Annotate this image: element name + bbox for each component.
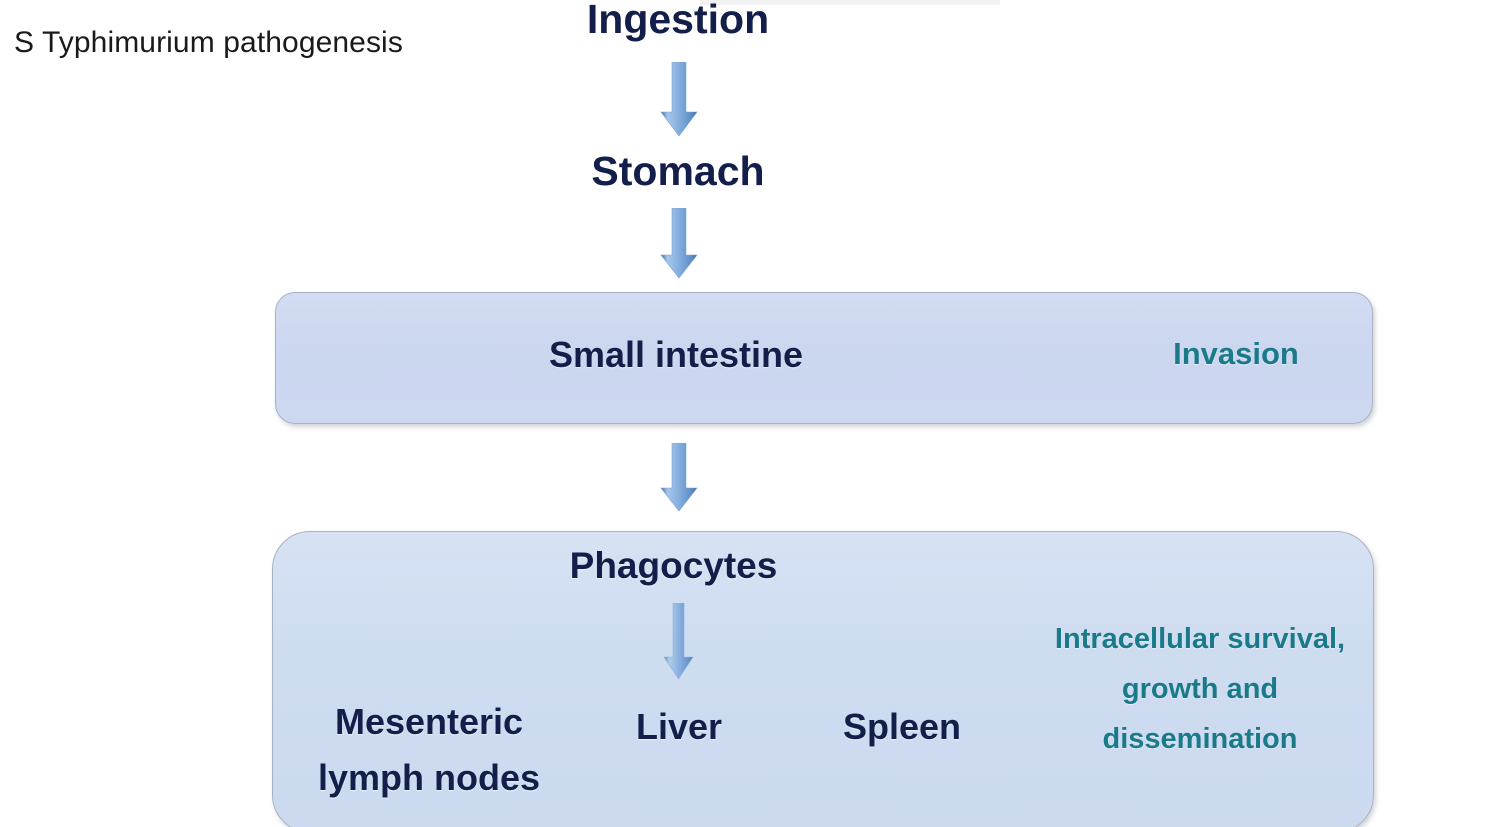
arrow-down-phagocytes-to-organs <box>662 603 696 688</box>
annotation-intracellular-survival: Intracellular survival, growth and disse… <box>1030 614 1370 764</box>
diagram-canvas: S Typhimurium pathogenesis Ingestion Sto… <box>0 0 1492 827</box>
arrow-down-stomach-to-small-intestine <box>656 208 702 287</box>
arrow-down-small-intestine-to-phagocytes <box>656 443 702 520</box>
annotation-invasion: Invasion <box>1076 336 1396 372</box>
step-label-spleen: Spleen <box>812 706 992 748</box>
step-label-liver: Liver <box>594 706 764 748</box>
step-label-ingestion: Ingestion <box>0 0 1356 43</box>
step-label-phagocytes: Phagocytes <box>276 545 1071 587</box>
arrow-down-ingestion-to-stomach <box>656 62 702 145</box>
step-label-mesenteric-lymph-nodes: Mesenteric lymph nodes <box>284 694 574 806</box>
step-label-small-intestine: Small intestine <box>276 334 1076 376</box>
step-label-stomach: Stomach <box>0 148 1356 195</box>
